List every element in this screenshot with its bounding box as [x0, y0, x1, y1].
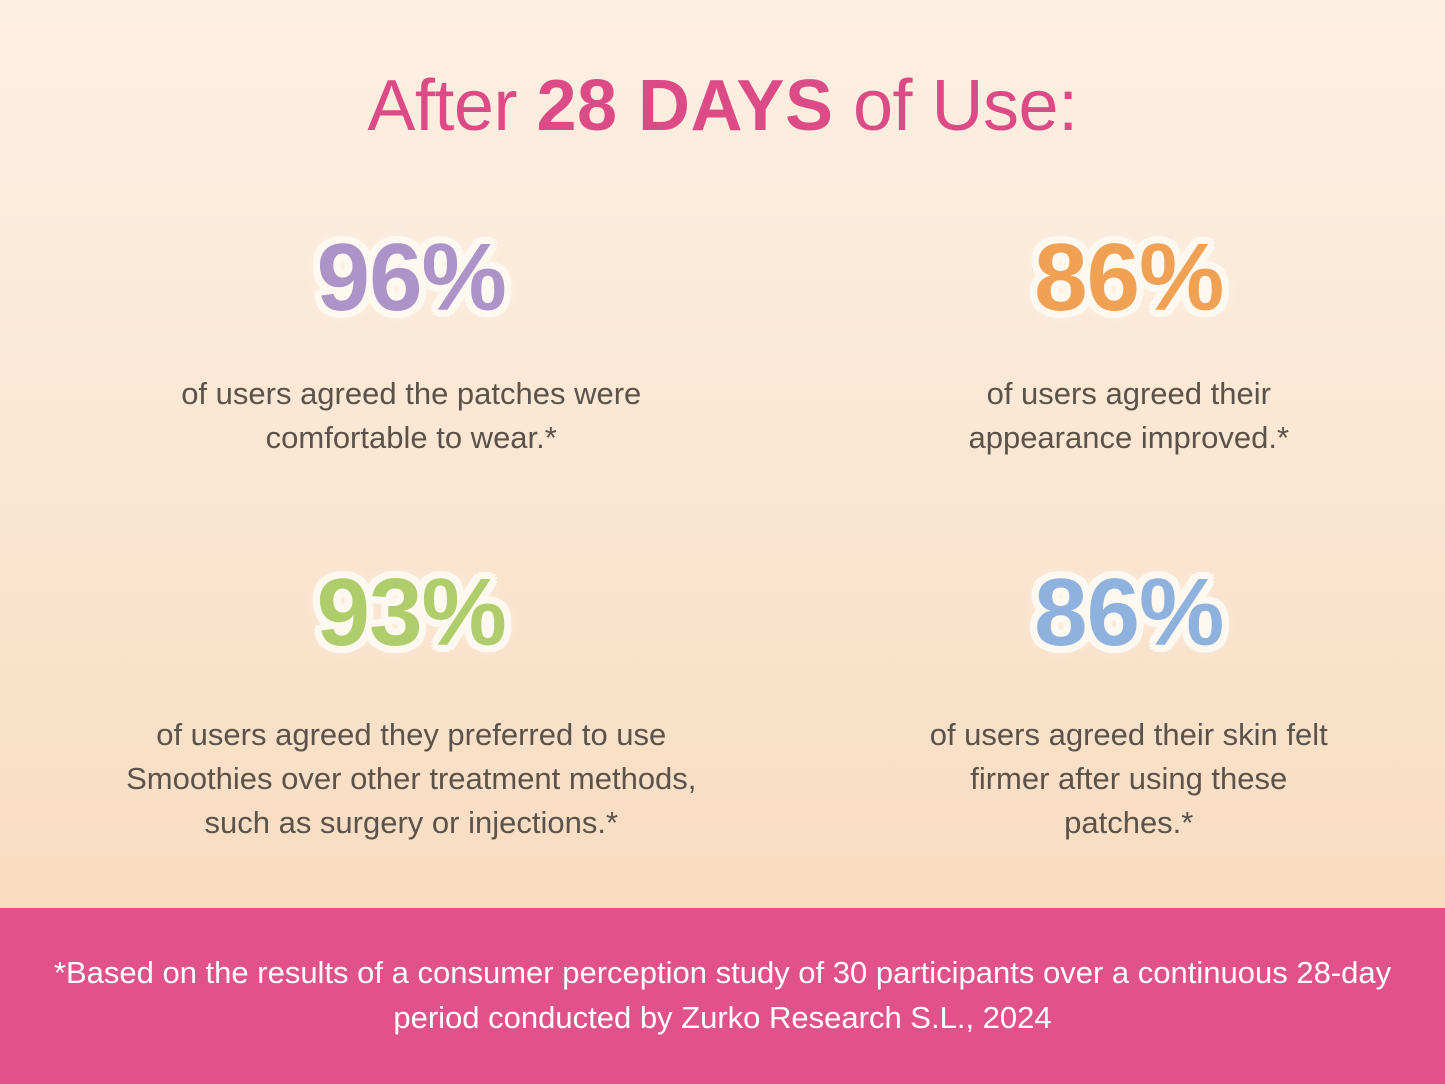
title-light-prefix: After	[367, 66, 536, 146]
stat-caption-firmness: of users agreed their skin felt firmer a…	[919, 713, 1339, 845]
stat-block-preference: 93% of users agreed they preferred to us…	[0, 565, 723, 845]
footnote-band: *Based on the results of a consumer perc…	[0, 908, 1445, 1084]
stat-caption-comfortable: of users agreed the patches were comfort…	[131, 372, 691, 460]
stats-stage: After 28 DAYS of Use: 96% of users agree…	[0, 0, 1445, 908]
stat-value-96: 96%	[317, 230, 506, 326]
infographic-root: After 28 DAYS of Use: 96% of users agree…	[0, 0, 1445, 1084]
page-title-container: After 28 DAYS of Use:	[0, 70, 1445, 142]
stat-grid: 96% of users agreed the patches were com…	[0, 230, 1445, 845]
stat-caption-preference: of users agreed they preferred to use Sm…	[100, 713, 723, 845]
title-bold-emphasis: 28 DAYS	[536, 66, 833, 146]
footnote-text: *Based on the results of a consumer perc…	[8, 951, 1438, 1041]
page-title: After 28 DAYS of Use:	[367, 70, 1077, 142]
stat-value-86-firmness: 86%	[1034, 565, 1223, 661]
stat-value-86-appearance: 86%	[1034, 230, 1223, 326]
stat-block-firmness: 86% of users agreed their skin felt firm…	[723, 565, 1445, 845]
stat-block-appearance: 86% of users agreed their appearance imp…	[723, 230, 1445, 565]
title-light-suffix: of Use:	[833, 66, 1077, 146]
stat-caption-appearance: of users agreed their appearance improve…	[919, 372, 1339, 460]
stat-block-comfortable: 96% of users agreed the patches were com…	[0, 230, 723, 565]
stat-value-93: 93%	[317, 565, 506, 661]
